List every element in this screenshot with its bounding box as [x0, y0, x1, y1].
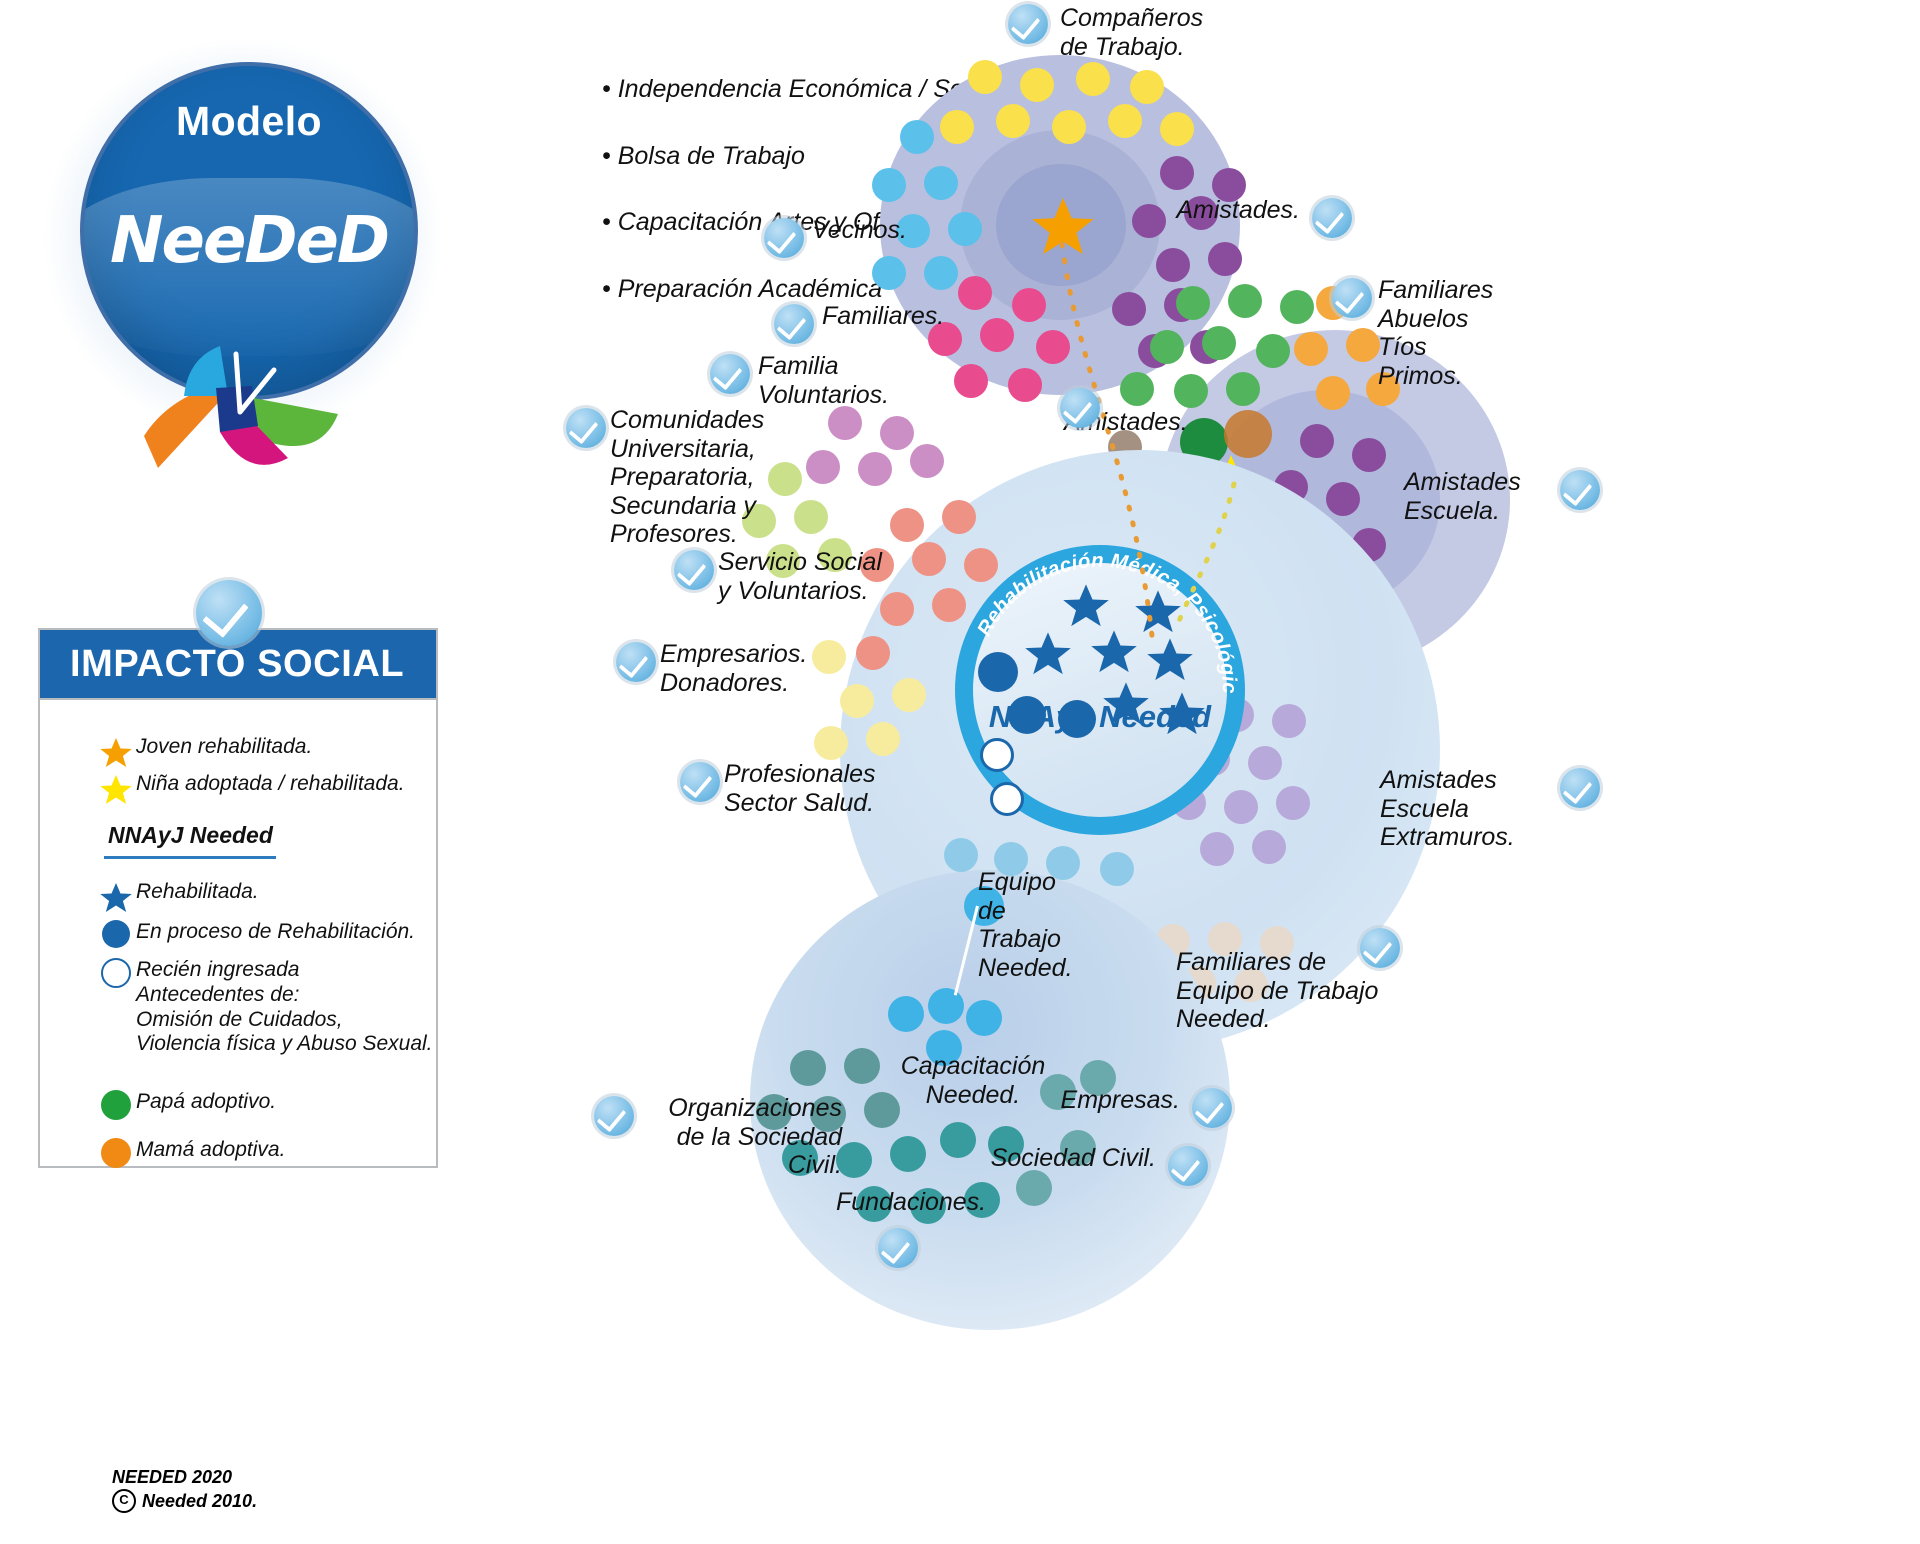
- label-familia-voluntarios: Familia Voluntarios.: [758, 352, 938, 409]
- label-equipo-trabajo: Equipo de Trabajo Needed.: [978, 868, 1128, 982]
- label-amistades-escuela: Amistades Escuela.: [1404, 468, 1584, 525]
- check-icon-familiares: [774, 304, 814, 344]
- footer-line-2: Needed 2010.: [142, 1489, 257, 1513]
- core-dot-hollow-1: [980, 738, 1014, 772]
- check-icon-empresarios: [616, 642, 656, 682]
- core-dot-1: [978, 652, 1018, 692]
- needed-pinwheel-icon: [128, 340, 348, 470]
- hollow-dot-icon: [96, 958, 136, 988]
- label-companeros: Compañeros de Trabajo.: [1060, 4, 1290, 61]
- label-vecinos: Vecinos.: [812, 216, 952, 245]
- check-icon-familiares-abuelos: [1332, 278, 1372, 318]
- check-icon-companeros: [1008, 4, 1048, 44]
- legend-item-mama: Mamá adoptiva.: [96, 1138, 416, 1168]
- legend-label-recien-ingresada: Recién ingresada Antecedentes de: Omisió…: [136, 958, 433, 1057]
- legend-label-nina: Niña adoptada / rehabilitada.: [136, 772, 405, 797]
- label-profesionales-salud: Profesionales Sector Salud.: [724, 760, 904, 817]
- label-empresas: Empresas.: [960, 1086, 1180, 1115]
- logo-title: Modelo: [84, 98, 414, 145]
- orange-dashed-connector: [1040, 240, 1180, 660]
- footer-credit: NEEDED 2020 C Needed 2010.: [112, 1465, 257, 1514]
- check-icon-amistades-escuela: [1560, 470, 1600, 510]
- check-icon-servicio-social: [674, 550, 714, 590]
- check-icon-empresas: [1192, 1088, 1232, 1128]
- legend-item-recien-ingresada: Recién ingresada Antecedentes de: Omisió…: [96, 958, 446, 1057]
- legend-item-en-proceso: En proceso de Rehabilitación.: [96, 920, 446, 948]
- label-familiares-abuelos: Familiares Abuelos Tíos Primos.: [1378, 276, 1558, 390]
- green-dot-icon: [96, 1090, 136, 1120]
- center-label: NNAyJ Needed: [955, 700, 1245, 734]
- blue-dot-icon: [96, 920, 136, 948]
- legend-item-joven: Joven rehabilitada.: [96, 735, 426, 771]
- legend-group-title: NNAyJ Needed: [108, 822, 273, 849]
- check-icon-comunidades: [566, 408, 606, 448]
- orange-dot-icon: [96, 1138, 136, 1168]
- footer-line-1: NEEDED 2020: [112, 1465, 257, 1489]
- needed-model-diagram: • Independencia Económica / Social • Bol…: [560, 0, 1920, 1544]
- check-icon-familiares-equipo: [1360, 928, 1400, 968]
- copyright-icon: C: [112, 1489, 136, 1513]
- label-fundaciones: Fundaciones.: [836, 1188, 1036, 1217]
- legend-item-papa: Papá adoptivo.: [96, 1090, 416, 1120]
- label-servicio-social: Servicio Social y Voluntarios.: [718, 548, 918, 605]
- check-icon-amistades-2: [1060, 388, 1100, 428]
- label-empresarios: Empresarios. Donadores.: [660, 640, 840, 697]
- check-icon-escuela-extramuros: [1560, 768, 1600, 808]
- legend-label-joven: Joven rehabilitada.: [136, 735, 312, 760]
- label-organizaciones: Organizaciones de la Sociedad Civil.: [622, 1094, 842, 1180]
- legend-label-mama: Mamá adoptiva.: [136, 1138, 285, 1163]
- orange-star-icon: [96, 735, 136, 771]
- check-badge-icon: [196, 580, 262, 646]
- label-sociedad-civil: Sociedad Civil.: [866, 1144, 1156, 1173]
- check-icon-familia-voluntarios: [710, 354, 750, 394]
- yellow-dashed-connector: [1160, 480, 1260, 640]
- label-familiares: Familiares.: [822, 302, 982, 331]
- legend-item-rehabilitada: Rehabilitada.: [96, 880, 416, 916]
- blue-star-icon: [96, 880, 136, 916]
- core-dot-hollow-2: [990, 782, 1024, 816]
- legend-label-papa: Papá adoptivo.: [136, 1090, 276, 1115]
- check-icon-sociedad-civil: [1168, 1146, 1208, 1186]
- logo-brand: NeeDeD: [84, 204, 414, 278]
- needed-logo: Modelo NeeDeD: [38, 40, 448, 460]
- legend-label-rehabilitada: Rehabilitada.: [136, 880, 259, 905]
- check-icon-organizaciones: [594, 1096, 634, 1136]
- check-icon-vecinos: [764, 218, 804, 258]
- legend-label-en-proceso: En proceso de Rehabilitación.: [136, 920, 415, 945]
- label-comunidades: Comunidades Universitaria, Preparatoria,…: [610, 406, 810, 549]
- impacto-social-title: IMPACTO SOCIAL: [40, 643, 404, 686]
- label-amistades-1: Amistades.: [1140, 196, 1300, 225]
- yellow-star-icon: [96, 772, 136, 808]
- legend-item-nina: Niña adoptada / rehabilitada.: [96, 772, 436, 808]
- check-icon-amistades-1: [1312, 198, 1352, 238]
- check-icon-profesionales-salud: [680, 762, 720, 802]
- check-icon-fundaciones: [878, 1228, 918, 1268]
- legend-group-divider: [104, 856, 276, 859]
